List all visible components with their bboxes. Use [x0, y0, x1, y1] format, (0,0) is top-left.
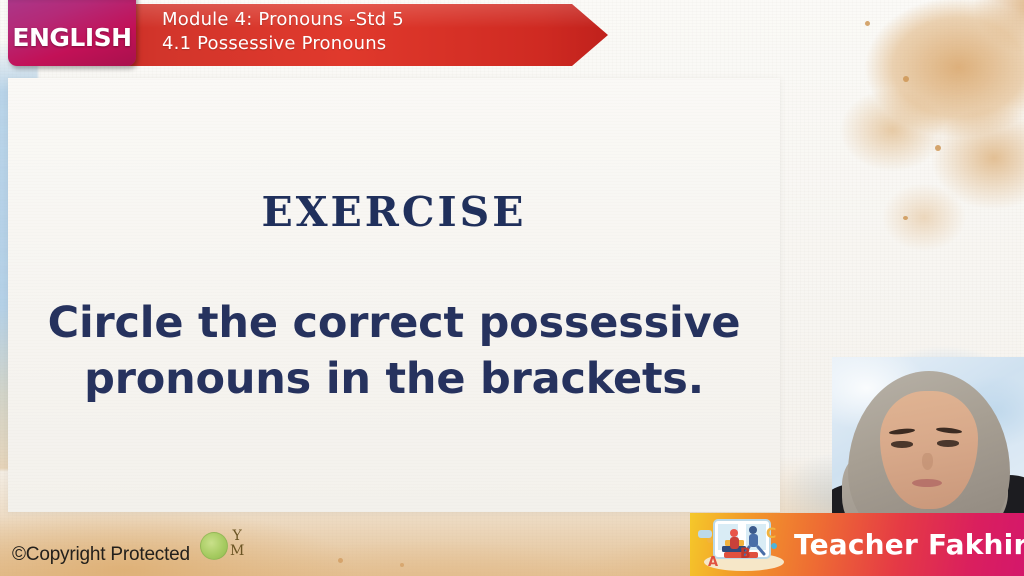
ym-letter-m: M: [230, 544, 244, 559]
paint-dot: [338, 558, 343, 563]
content-panel: EXERCISE Circle the correct possessive p…: [8, 78, 780, 512]
ym-watermark-logo: Y M: [200, 530, 264, 564]
copyright-text: ©Copyright Protected: [12, 544, 190, 566]
watercolor-splash-orange-right: [854, 90, 1024, 260]
svg-text:B: B: [740, 546, 751, 562]
ym-letters: Y M: [230, 529, 244, 558]
presenter-nose: [922, 453, 933, 470]
module-title: Module 4: Pronouns -Std 5: [162, 8, 582, 32]
subject-badge: ENGLISH: [8, 0, 136, 66]
lesson-subtitle: 4.1 Possessive Pronouns: [162, 32, 582, 56]
paint-dot: [400, 563, 404, 567]
paint-dot: [903, 76, 909, 82]
brand-bar: A B C Teacher Fakhira: [690, 513, 1024, 576]
paint-dot: [935, 145, 941, 151]
presenter-eye-right: [937, 440, 959, 447]
teacher-fakhira-logo-icon: A B C: [694, 516, 790, 574]
lesson-slide: Module 4: Pronouns -Std 5 4.1 Possessive…: [0, 0, 1024, 576]
exercise-instruction: Circle the correct possessive pronouns i…: [30, 296, 758, 408]
slide-header: Module 4: Pronouns -Std 5 4.1 Possessive…: [0, 0, 620, 72]
svg-text:A: A: [708, 555, 718, 570]
brand-name-label: Teacher Fakhira: [794, 528, 1024, 561]
ym-letter-y: Y: [230, 529, 244, 544]
ym-leaf-circle-icon: [200, 532, 228, 560]
presenter-eye-left: [891, 441, 913, 448]
svg-text:C: C: [766, 526, 776, 542]
paint-dot: [865, 21, 870, 26]
subject-badge-label: ENGLISH: [12, 23, 131, 52]
presenter-webcam: [832, 357, 1024, 513]
paint-dot: [903, 216, 908, 220]
panel-texture: [8, 78, 780, 512]
header-text-group: Module 4: Pronouns -Std 5 4.1 Possessive…: [162, 8, 582, 56]
presenter-mouth: [912, 479, 942, 487]
exercise-heading: EXERCISE: [8, 188, 780, 236]
